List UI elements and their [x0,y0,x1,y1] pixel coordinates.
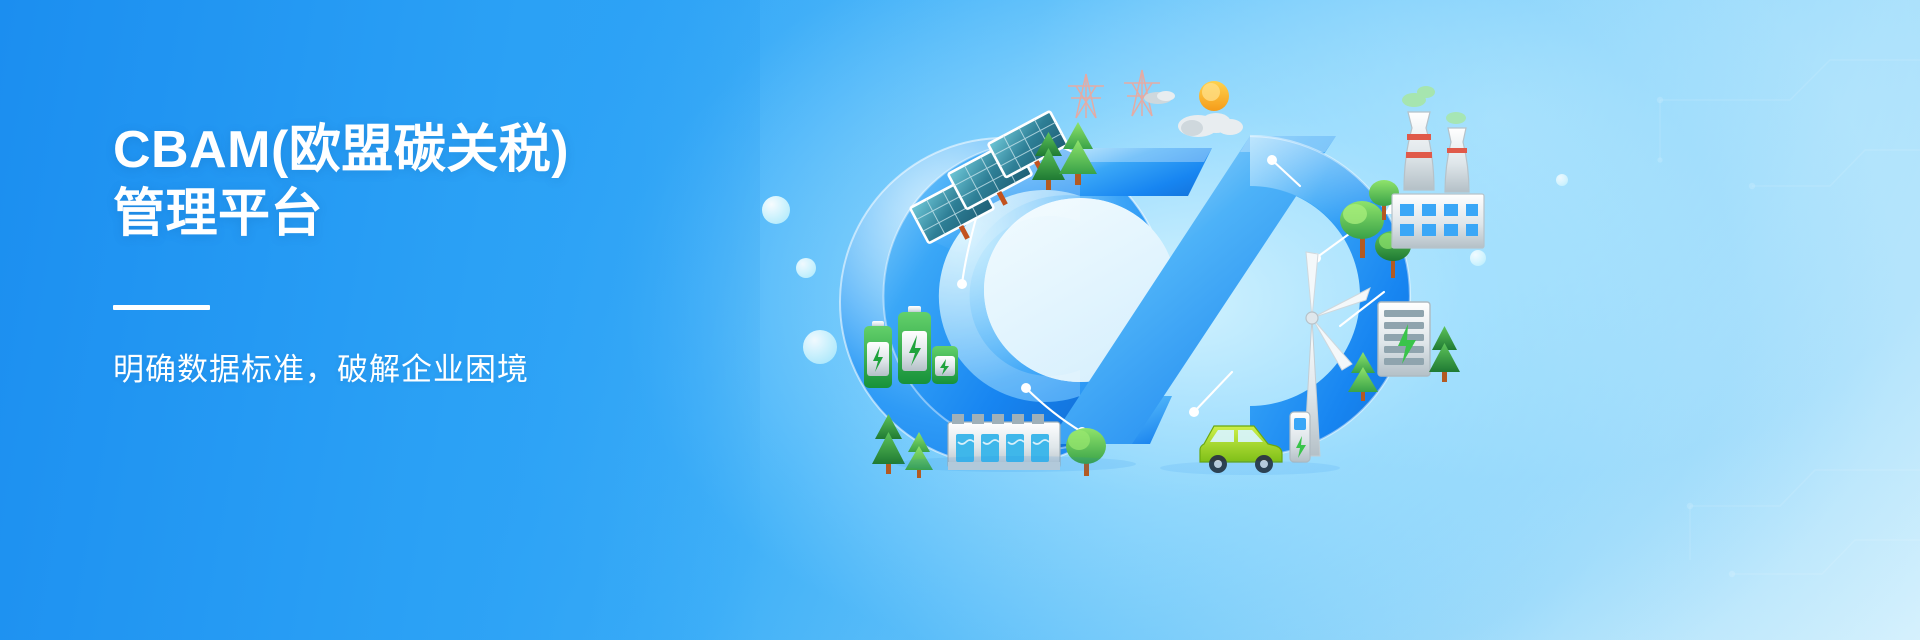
factory-icon [1392,194,1484,248]
page-title: CBAM(欧盟碳关税) 管理平台 [113,118,753,246]
cooling-tower-icon [1402,86,1435,190]
page-title-line2: 管理平台 [113,182,753,246]
page-subtitle: 明确数据标准，破解企业困境 [113,350,753,390]
charging-station-icon [1290,412,1310,462]
cooling-tower-icon [1445,112,1469,192]
page-title-line1: CBAM(欧盟碳关税) [113,121,569,179]
sun-icon [1199,81,1229,111]
eco-infinity-illustration [780,40,1540,470]
cbam-hero-banner: CBAM(欧盟碳关税) 管理平台 明确数据标准，破解企业困境 [0,0,1920,640]
power-tower-icon [1068,70,1160,118]
title-divider [113,305,210,310]
server-rack-icon [1378,302,1430,376]
hero-text-block: CBAM(欧盟碳关税) 管理平台 明确数据标准，破解企业困境 [113,118,753,390]
decorative-bubble [1556,174,1568,186]
